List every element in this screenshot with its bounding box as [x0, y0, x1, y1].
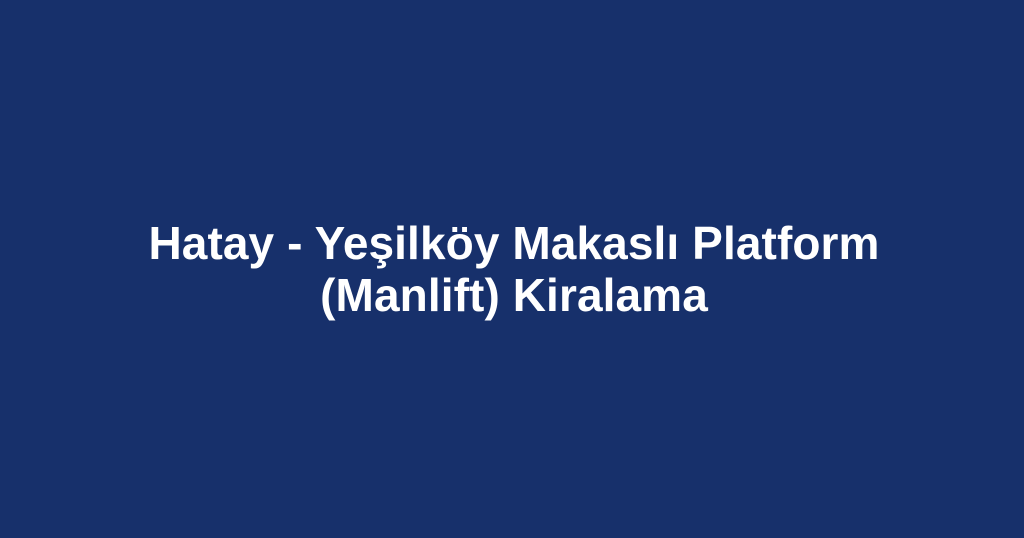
banner-canvas: Hatay - Yeşilköy Makaslı Platform (Manli…: [0, 0, 1024, 538]
page-title: Hatay - Yeşilköy Makaslı Platform (Manli…: [134, 217, 894, 321]
banner-title-block: Hatay - Yeşilköy Makaslı Platform (Manli…: [134, 217, 894, 321]
